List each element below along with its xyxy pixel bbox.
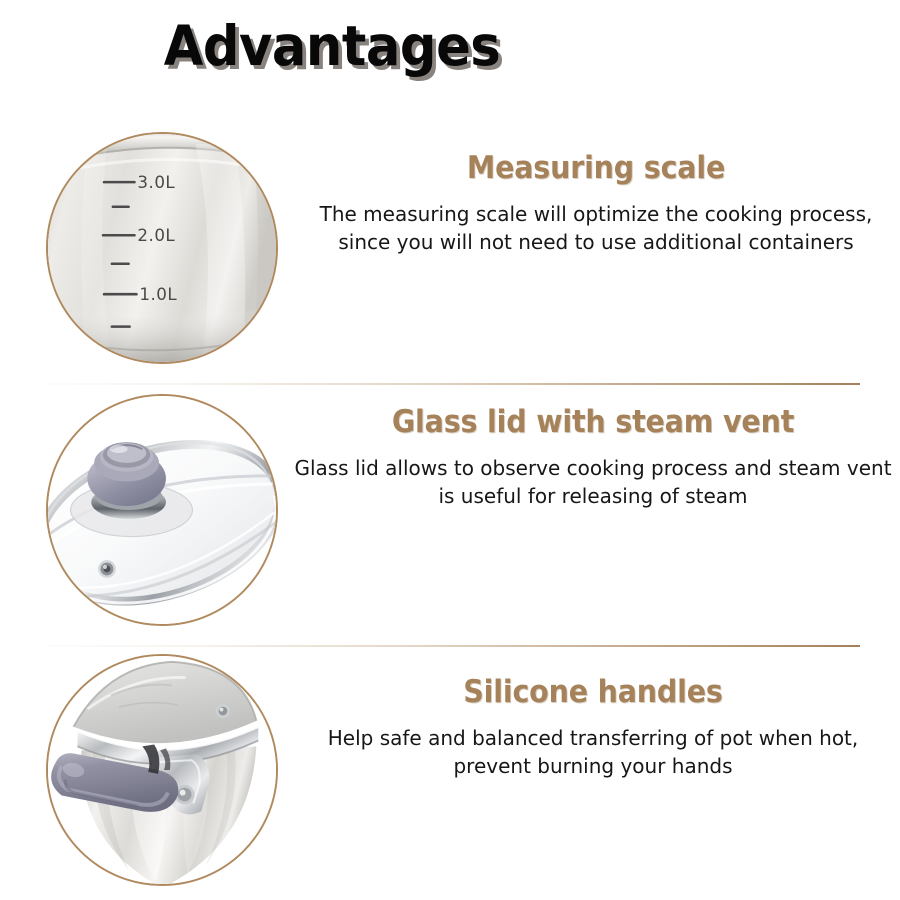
infographic-page: Advantages xyxy=(0,0,900,900)
section-divider-1 xyxy=(45,383,860,385)
scale-label-1l: 1.0L xyxy=(139,284,177,304)
feature-section-measuring-scale: 3.0L 2.0L 1.0L Measuring scale The measu… xyxy=(0,130,900,380)
glass-lid-steam-vent-photo xyxy=(46,394,278,626)
header-banner: Advantages xyxy=(26,4,638,92)
scale-label-3l: 3.0L xyxy=(137,172,175,192)
feature-body: The measuring scale will optimize the co… xyxy=(296,200,896,257)
feature-text-measuring-scale: Measuring scale The measuring scale will… xyxy=(296,150,896,257)
feature-heading: Glass lid with steam vent xyxy=(311,404,876,440)
feature-body: Help safe and balanced transferring of p… xyxy=(286,724,900,781)
feature-section-glass-lid: Glass lid with steam vent Glass lid allo… xyxy=(0,392,900,642)
section-divider-2 xyxy=(45,645,860,647)
feature-section-silicone-handles: Silicone handles Help safe and balanced … xyxy=(0,652,900,900)
silicone-handle-photo xyxy=(46,654,278,886)
feature-text-glass-lid: Glass lid with steam vent Glass lid allo… xyxy=(286,404,900,511)
pot-interior-measuring-scale-photo: 3.0L 2.0L 1.0L xyxy=(46,132,278,364)
feature-body: Glass lid allows to observe cooking proc… xyxy=(286,454,900,511)
page-title: Advantages xyxy=(47,4,616,92)
feature-heading: Measuring scale xyxy=(320,150,872,186)
steam-vent-hole xyxy=(98,560,116,578)
feature-heading: Silicone handles xyxy=(311,674,876,710)
scale-label-2l: 2.0L xyxy=(137,225,175,245)
feature-text-silicone-handles: Silicone handles Help safe and balanced … xyxy=(286,674,900,781)
lid-rivet xyxy=(216,704,230,718)
